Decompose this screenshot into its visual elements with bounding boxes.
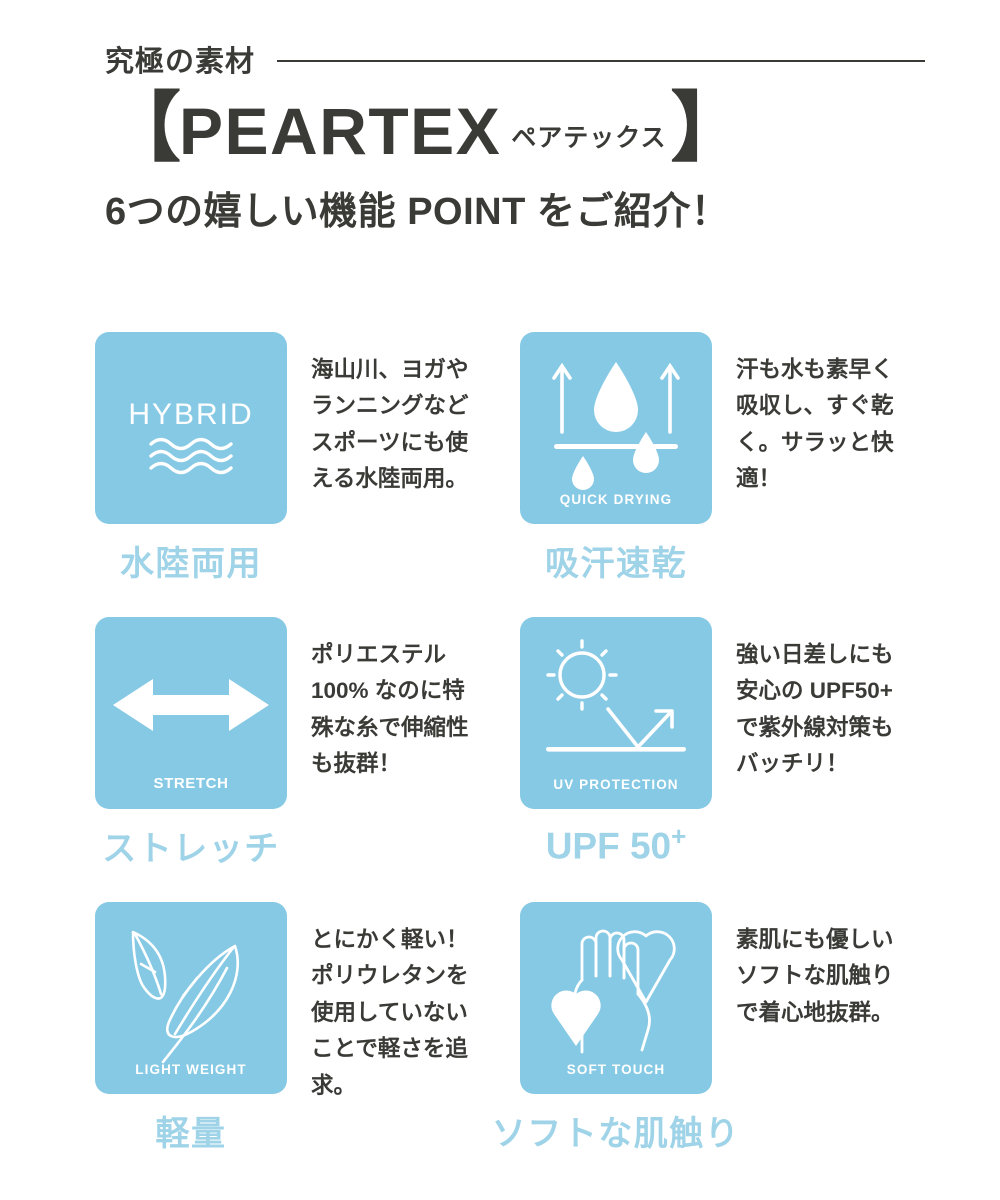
- feature-card-soft-touch: SOFT TOUCH ソフトな肌触り 素肌にも優しい ソフトな肌触り で着心地抜…: [520, 902, 945, 1187]
- stretch-tile: STRETCH: [95, 617, 287, 809]
- feature-description: 海山川、ヨガや ランニングなど スポーツにも使 える水陸両用。: [287, 332, 520, 617]
- feature-tile-wrap: UV PROTECTION UPF 50+: [520, 617, 712, 902]
- feature-description: 強い日差しにも 安心の UPF50+ で紫外線対策も バッチリ！: [712, 617, 945, 902]
- description-line: 100% なのに特: [311, 673, 520, 709]
- description-line: 素肌にも優しい: [736, 922, 945, 958]
- feature-row: STRETCH ストレッチ ポリエステル 100% なのに特 殊な糸で伸縮性 も…: [95, 617, 975, 902]
- feature-label-superscript: +: [671, 821, 686, 851]
- tile-caption: STRETCH: [95, 775, 287, 792]
- description-line: ポリエステル: [311, 637, 520, 673]
- feature-label: 吸汗速乾: [520, 536, 712, 585]
- feature-tile-wrap: QUICK DRYING 吸汗速乾: [520, 332, 712, 617]
- feature-tile-wrap: HYBRID 水陸両用: [95, 332, 287, 617]
- header-divider-line: [277, 60, 925, 62]
- feature-card-stretch: STRETCH ストレッチ ポリエステル 100% なのに特 殊な糸で伸縮性 も…: [95, 617, 520, 902]
- feature-card-hybrid: HYBRID 水陸両用 海山川、ヨガや ランニングなど スポーツにも使: [95, 332, 520, 617]
- light-weight-tile: LIGHT WEIGHT: [95, 902, 287, 1094]
- description-line: ランニングなど: [311, 388, 520, 424]
- peartex-feature-page: 究極の素材 【 PEARTEX ペアテックス 】 6つの嬉しい機能 POINT …: [0, 0, 1000, 1200]
- feature-row: HYBRID 水陸両用 海山川、ヨガや ランニングなど スポーツにも使: [95, 332, 975, 617]
- description-line: 強い日差しにも: [736, 637, 945, 673]
- page-header: 究極の素材 【 PEARTEX ペアテックス 】 6つの嬉しい機能 POINT …: [105, 38, 925, 235]
- page-subtitle: 6つの嬉しい機能 POINT をご紹介！: [105, 180, 925, 235]
- feature-tile-wrap: STRETCH ストレッチ: [95, 617, 287, 902]
- description-line: ことで軽さを追: [311, 1031, 520, 1067]
- description-line: で着心地抜群。: [736, 995, 945, 1031]
- soft-touch-tile: SOFT TOUCH: [520, 902, 712, 1094]
- feature-description: ポリエステル 100% なのに特 殊な糸で伸縮性 も抜群！: [287, 617, 520, 902]
- tile-caption: UV PROTECTION: [520, 777, 712, 792]
- description-line: 適！: [736, 461, 945, 497]
- quick-drying-tile: QUICK DRYING: [520, 332, 712, 524]
- description-line: 汗も水も素早く: [736, 352, 945, 388]
- feature-row: LIGHT WEIGHT 軽量 とにかく軽い！ ポリウレタンを 使用していない …: [95, 902, 975, 1187]
- bracket-open: 【: [105, 94, 179, 164]
- brand-name: PEARTEX: [179, 98, 501, 164]
- feature-label-text: UPF 50: [546, 825, 671, 866]
- hybrid-waves-icon: HYBRID: [95, 332, 287, 524]
- hybrid-tile: HYBRID: [95, 332, 287, 524]
- tile-caption: QUICK DRYING: [520, 492, 712, 507]
- feature-card-uv-protection: UV PROTECTION UPF 50+ 強い日差しにも 安心の UPF50+…: [520, 617, 945, 902]
- feature-tile-wrap: LIGHT WEIGHT 軽量: [95, 902, 287, 1187]
- description-line: ソフトな肌触り: [736, 958, 945, 994]
- brand-kana: ペアテックス: [511, 118, 666, 154]
- tile-caption: SOFT TOUCH: [520, 1062, 712, 1077]
- feature-grid: HYBRID 水陸両用 海山川、ヨガや ランニングなど スポーツにも使: [95, 332, 975, 1187]
- description-line: 使用していない: [311, 995, 520, 1031]
- description-line: で紫外線対策も: [736, 710, 945, 746]
- header-eyebrow-row: 究極の素材: [105, 38, 925, 80]
- description-line: バッチリ！: [736, 746, 945, 782]
- tile-caption: LIGHT WEIGHT: [95, 1062, 287, 1077]
- svg-text:HYBRID: HYBRID: [128, 398, 253, 431]
- feature-description: 素肌にも優しい ソフトな肌触り で着心地抜群。: [712, 902, 945, 1187]
- description-line: ポリウレタンを: [311, 958, 520, 994]
- description-line: える水陸両用。: [311, 461, 520, 497]
- bracket-close: 】: [671, 94, 745, 164]
- feature-label: ストレッチ: [95, 821, 287, 870]
- description-line: スポーツにも使: [311, 425, 520, 461]
- uv-protection-tile: UV PROTECTION: [520, 617, 712, 809]
- feature-tile-wrap: SOFT TOUCH ソフトな肌触り: [520, 902, 712, 1187]
- page-title: 【 PEARTEX ペアテックス 】: [105, 94, 925, 164]
- description-line: 求。: [311, 1068, 520, 1104]
- feature-card-light-weight: LIGHT WEIGHT 軽量 とにかく軽い！ ポリウレタンを 使用していない …: [95, 902, 520, 1187]
- description-line: とにかく軽い！: [311, 922, 520, 958]
- feature-description: 汗も水も素早く 吸収し、すぐ乾 く。サラッと快 適！: [712, 332, 945, 617]
- feature-card-quick-drying: QUICK DRYING 吸汗速乾 汗も水も素早く 吸収し、すぐ乾 く。サラッと…: [520, 332, 945, 617]
- description-line: 吸収し、すぐ乾: [736, 388, 945, 424]
- feature-label: 水陸両用: [95, 536, 287, 585]
- description-line: 海山川、ヨガや: [311, 352, 520, 388]
- feature-label: UPF 50+: [520, 821, 712, 867]
- description-line: く。サラッと快: [736, 425, 945, 461]
- feature-label: 軽量: [95, 1106, 287, 1155]
- eyebrow-text: 究極の素材: [105, 38, 255, 80]
- description-line: 殊な糸で伸縮性: [311, 710, 520, 746]
- description-line: 安心の UPF50+: [736, 673, 945, 709]
- description-line: も抜群！: [311, 746, 520, 782]
